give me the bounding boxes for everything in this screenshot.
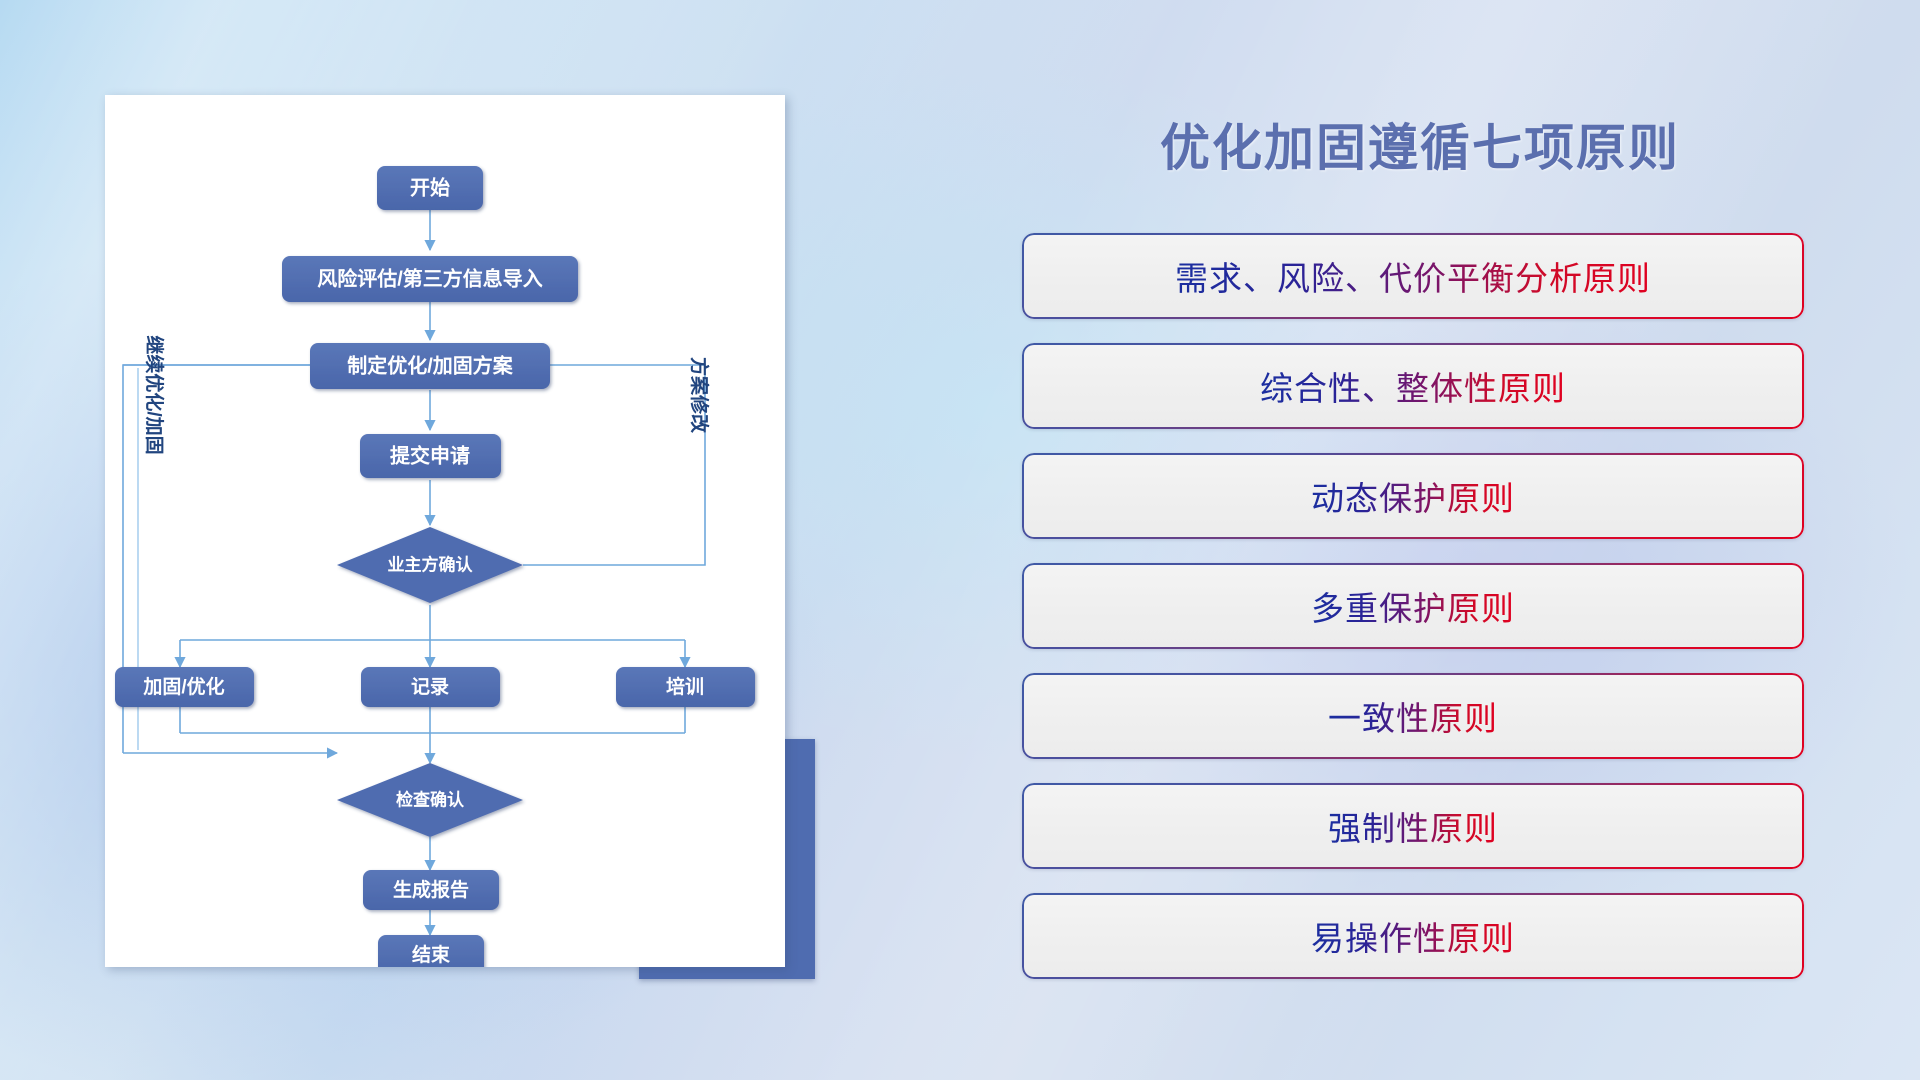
flow-node-reinforce-optimize[interactable]: 加固/优化 bbox=[115, 667, 254, 707]
principle-label: 多重保护原则 bbox=[1311, 582, 1515, 630]
principle-card[interactable]: 综合性、整体性原则 bbox=[1022, 343, 1804, 429]
principle-card[interactable]: 动态保护原则 bbox=[1022, 453, 1804, 539]
flow-node-owner-confirm-label: 业主方确认 bbox=[388, 554, 474, 574]
flow-node-submit-application-label: 提交申请 bbox=[390, 443, 470, 467]
loop-label-right: 方案修改 bbox=[688, 357, 711, 434]
panel-title: 优化加固遵循七项原则 bbox=[1020, 108, 1820, 180]
flowchart-diagram: 开始 风险评估/第三方信息导入 制定优化/加固方案 提交申请 业主方确认 bbox=[105, 95, 785, 967]
flow-node-training[interactable]: 培训 bbox=[616, 667, 755, 707]
principle-card[interactable]: 一致性原则 bbox=[1022, 673, 1804, 759]
flow-node-submit-application[interactable]: 提交申请 bbox=[360, 434, 501, 478]
principle-label: 动态保护原则 bbox=[1311, 472, 1515, 520]
principle-card[interactable]: 易操作性原则 bbox=[1022, 893, 1804, 979]
flow-node-check-confirm-label: 检查确认 bbox=[396, 789, 465, 809]
flow-node-risk-assessment[interactable]: 风险评估/第三方信息导入 bbox=[282, 256, 578, 302]
principle-label: 综合性、整体性原则 bbox=[1260, 362, 1566, 410]
flowchart-card: 开始 风险评估/第三方信息导入 制定优化/加固方案 提交申请 业主方确认 bbox=[105, 95, 785, 967]
flow-node-start-label: 开始 bbox=[410, 175, 450, 199]
flow-node-start[interactable]: 开始 bbox=[377, 166, 483, 210]
principles-list: 需求、风险、代价平衡分析原则 综合性、整体性原则 动态保护原则 多重保护原则 一… bbox=[1022, 233, 1804, 1003]
principle-card[interactable]: 多重保护原则 bbox=[1022, 563, 1804, 649]
slide-canvas: 开始 风险评估/第三方信息导入 制定优化/加固方案 提交申请 业主方确认 bbox=[0, 0, 1920, 1080]
loop-label-left: 继续优化/加固 bbox=[143, 335, 166, 454]
principle-card[interactable]: 需求、风险、代价平衡分析原则 bbox=[1022, 233, 1804, 319]
flow-node-owner-confirm[interactable]: 业主方确认 bbox=[337, 527, 523, 603]
flow-node-training-label: 培训 bbox=[666, 675, 704, 698]
flow-node-check-confirm[interactable]: 检查确认 bbox=[337, 763, 523, 837]
flow-node-reinforce-optimize-label: 加固/优化 bbox=[142, 675, 224, 698]
flow-node-end[interactable]: 结束 bbox=[378, 935, 484, 967]
flow-node-record-label: 记录 bbox=[411, 676, 449, 698]
flow-node-make-plan-label: 制定优化/加固方案 bbox=[347, 353, 514, 377]
principle-label: 一致性原则 bbox=[1328, 692, 1498, 740]
principle-label: 强制性原则 bbox=[1328, 802, 1498, 850]
flow-node-make-plan[interactable]: 制定优化/加固方案 bbox=[310, 343, 550, 389]
flow-node-generate-report-label: 生成报告 bbox=[393, 878, 469, 901]
principle-label: 需求、风险、代价平衡分析原则 bbox=[1175, 252, 1651, 300]
flow-node-record[interactable]: 记录 bbox=[361, 667, 500, 707]
principle-label: 易操作性原则 bbox=[1311, 912, 1515, 960]
flow-node-risk-assessment-label: 风险评估/第三方信息导入 bbox=[317, 266, 543, 290]
flow-node-end-label: 结束 bbox=[412, 943, 451, 966]
flow-node-generate-report[interactable]: 生成报告 bbox=[363, 870, 499, 910]
principle-card[interactable]: 强制性原则 bbox=[1022, 783, 1804, 869]
